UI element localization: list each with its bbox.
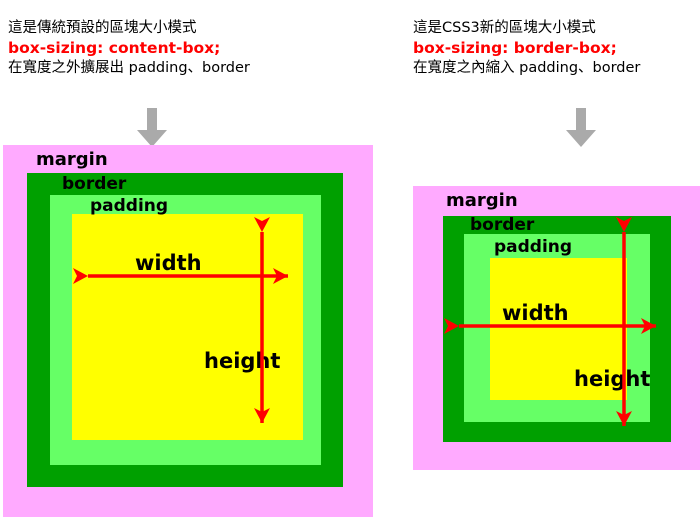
height-label: height [574, 369, 650, 390]
margin-label: margin [446, 192, 518, 210]
width-label: width [135, 253, 202, 274]
border-label: border [62, 176, 126, 193]
caption-line-1: 這是CSS3新的區塊大小模式 [413, 18, 640, 38]
content-area [72, 214, 303, 440]
caption-code-line: box-sizing: content-box; [8, 38, 250, 58]
down-arrow-icon [134, 108, 170, 148]
margin-label: margin [36, 151, 108, 169]
padding-label: padding [90, 198, 168, 215]
height-label: height [204, 351, 280, 372]
caption-code-line: box-sizing: border-box; [413, 38, 640, 58]
caption-border-box: 這是CSS3新的區塊大小模式 box-sizing: border-box; 在… [413, 18, 640, 78]
diagram-canvas: 這是傳統預設的區塊大小模式 box-sizing: content-box; 在… [0, 0, 700, 514]
width-label: width [502, 303, 569, 324]
caption-line-1: 這是傳統預設的區塊大小模式 [8, 18, 250, 38]
caption-line-3: 在寬度之內縮入 padding、border [413, 58, 640, 78]
caption-content-box: 這是傳統預設的區塊大小模式 box-sizing: content-box; 在… [8, 18, 250, 78]
border-label: border [470, 217, 534, 234]
down-arrow-icon [563, 108, 599, 148]
padding-label: padding [494, 239, 572, 256]
caption-line-3: 在寬度之外擴展出 padding、border [8, 58, 250, 78]
